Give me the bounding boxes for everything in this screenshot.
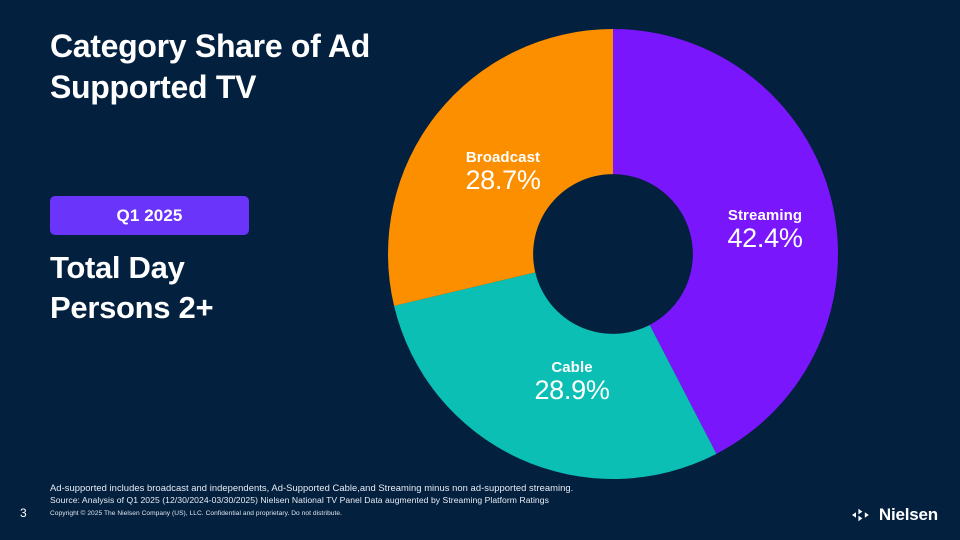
slice-name-cable: Cable <box>512 360 632 376</box>
slice-name-streaming: Streaming <box>705 208 825 224</box>
slice-value-cable: 28.9% <box>512 376 632 404</box>
page-number: 3 <box>20 506 27 520</box>
nielsen-arrows-mark-icon <box>852 508 872 522</box>
donut-chart-svg <box>380 21 846 487</box>
nielsen-logo: Nielsen <box>852 505 938 525</box>
footnote-source: Source: Analysis of Q1 2025 (12/30/2024-… <box>50 494 750 506</box>
nielsen-logo-text: Nielsen <box>879 505 938 525</box>
footnotes: Ad-supported includes broadcast and inde… <box>50 481 750 519</box>
slice-value-broadcast: 28.7% <box>443 166 563 194</box>
footnote-copyright: Copyright © 2025 The Nielsen Company (US… <box>50 509 750 520</box>
slice-label-streaming: Streaming 42.4% <box>705 208 825 252</box>
donut-chart <box>380 21 846 487</box>
footnote-definition: Ad-supported includes broadcast and inde… <box>50 481 750 494</box>
slice-label-cable: Cable 28.9% <box>512 360 632 404</box>
slide-canvas: Category Share of Ad Supported TV Q1 202… <box>0 0 960 540</box>
slice-label-broadcast: Broadcast 28.7% <box>443 150 563 194</box>
slice-name-broadcast: Broadcast <box>443 150 563 166</box>
page-subtitle: Total Day Persons 2+ <box>50 248 410 329</box>
slice-value-streaming: 42.4% <box>705 224 825 252</box>
period-badge: Q1 2025 <box>50 196 249 235</box>
period-badge-label: Q1 2025 <box>117 206 183 226</box>
